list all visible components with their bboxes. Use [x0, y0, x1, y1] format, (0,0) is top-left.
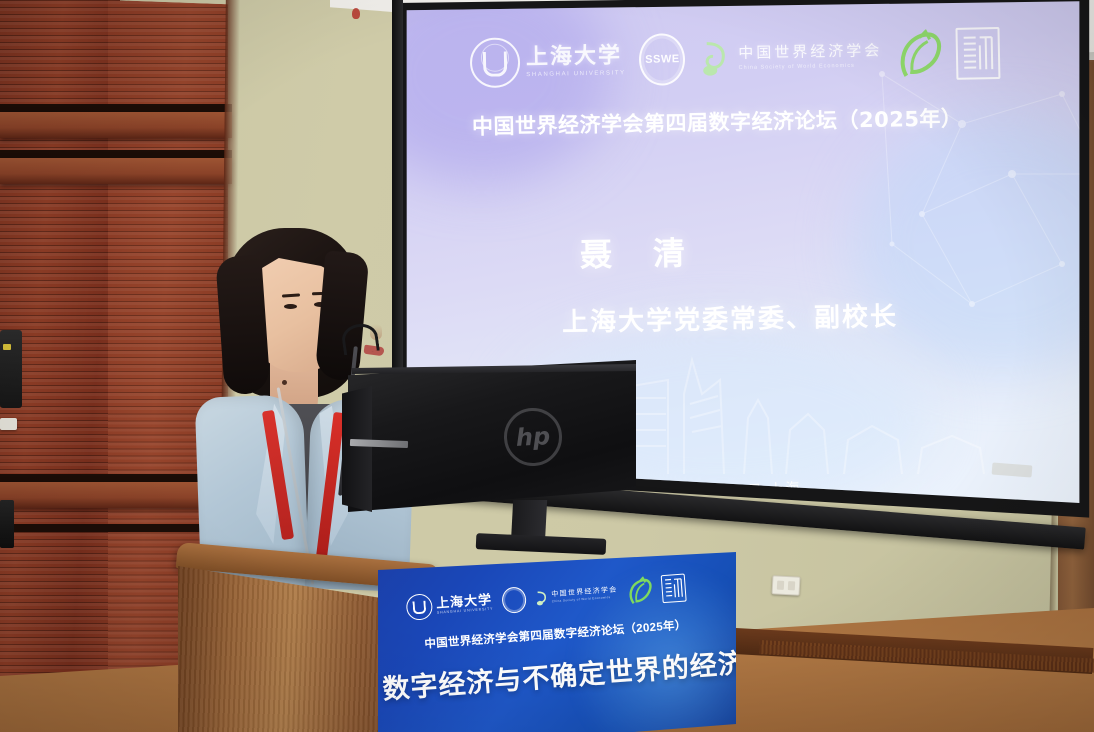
shanghai-university-logo-en: SHANGHAI UNIVERSITY — [526, 70, 626, 78]
banner-green-leaf-logo — [626, 576, 654, 606]
city-skyline-graphic — [572, 344, 1002, 474]
conference-photo-scene: 上海大学 SHANGHAI UNIVERSITY SSWE 中国世界经济学会 C… — [0, 0, 1094, 732]
sswe-logo: SSWE — [639, 33, 686, 86]
banner-sswe-logo — [501, 586, 527, 614]
seal-logo: 上海大学 — [956, 27, 1001, 80]
monitor-rear-panel — [336, 360, 636, 512]
banner-su-emblem-icon — [405, 593, 433, 621]
cswe-emblem-icon — [699, 39, 734, 78]
slide-speaker-title: 上海大学党委常委、副校长 — [562, 296, 899, 339]
wood-panel-band — [0, 158, 232, 184]
hair-side-left — [215, 255, 271, 396]
china-society-world-economics-logo: 中国世界经济学会 China Society of World Economic… — [699, 36, 883, 78]
cswe-logo-cn: 中国世界经济学会 — [738, 43, 882, 62]
banner-cswe-logo: 中国世界经济学会 China Society of World Economic… — [534, 584, 618, 606]
slide-logo-row: 上海大学 SHANGHAI UNIVERSITY SSWE 中国世界经济学会 C… — [469, 7, 1011, 109]
wall-red-mark — [352, 8, 360, 19]
wood-panel-gap — [0, 150, 232, 158]
cswe-logo-en: China Society of World Economics — [739, 62, 883, 71]
monitor-left-side — [342, 386, 372, 512]
banner-seal-logo — [661, 574, 687, 604]
slide-speaker-name: 聂 清 — [580, 228, 702, 276]
green-leaf-logo — [896, 29, 943, 80]
wood-panel-band — [0, 112, 232, 138]
shanghai-university-logo: 上海大学 SHANGHAI UNIVERSITY — [470, 35, 626, 88]
banner-seal-glyphs-icon — [662, 575, 686, 603]
banner-cswe-emblem-icon — [534, 590, 549, 607]
device-led-icon — [3, 344, 11, 350]
eye-left — [284, 304, 297, 309]
lectern: 上海大学 SHANGHAI UNIVERSITY 中国世界经济学会 China … — [178, 528, 758, 732]
wood-panel-gap — [0, 104, 232, 112]
neck-mole — [282, 380, 287, 385]
lectern-banner: 上海大学 SHANGHAI UNIVERSITY 中国世界经济学会 China … — [378, 552, 736, 732]
wall-plate — [0, 418, 17, 430]
shanghai-university-emblem-icon — [470, 37, 521, 88]
wall-mounted-device-lower — [0, 500, 14, 548]
eyebrow-left — [282, 293, 300, 297]
hp-monitor: hp — [336, 360, 636, 550]
wall-mounted-device — [0, 330, 22, 408]
seal-glyphs-icon — [958, 29, 999, 78]
banner-shanghai-university-logo: 上海大学 SHANGHAI UNIVERSITY — [405, 589, 493, 621]
shanghai-university-logo-cn: 上海大学 — [526, 44, 626, 68]
